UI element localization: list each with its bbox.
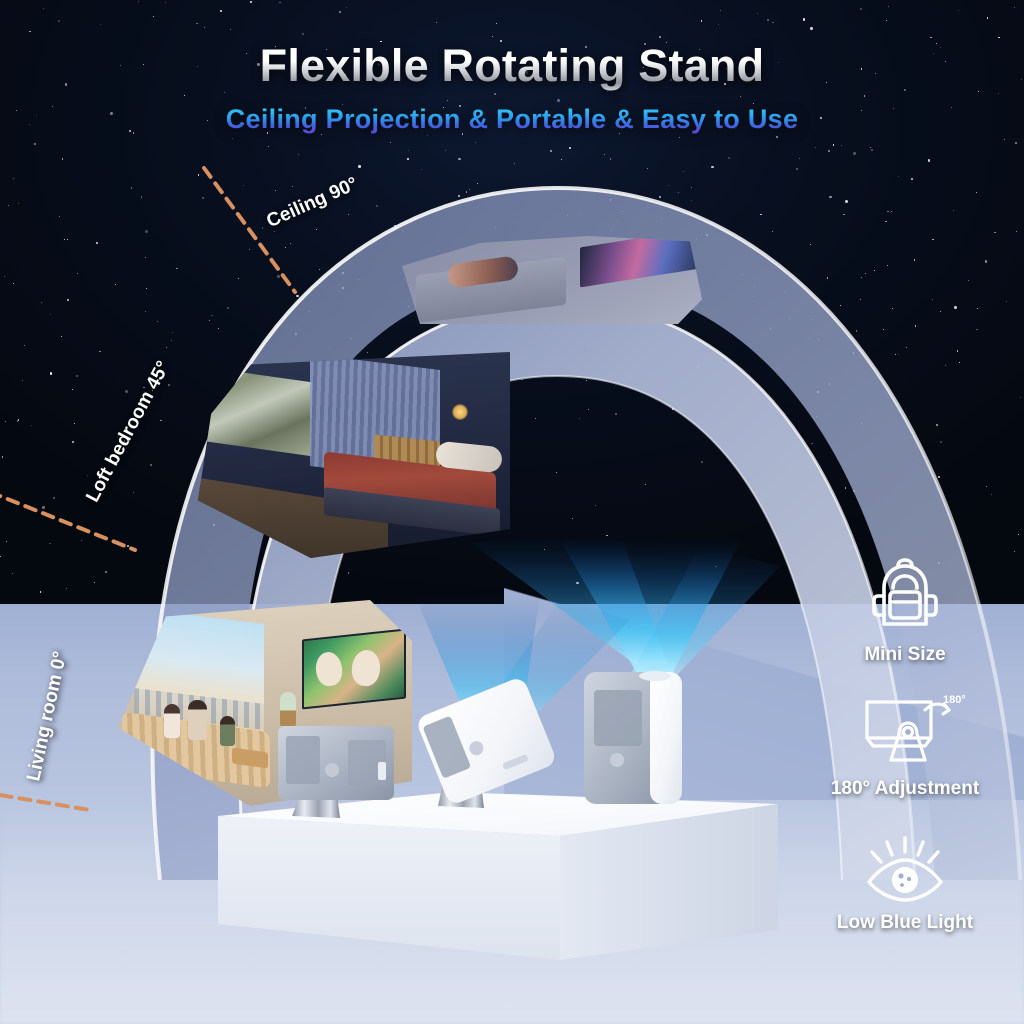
feature-low-blue-light: Low Blue Light [800, 834, 1010, 934]
rotation-badge: 180° [943, 694, 965, 706]
feature-180-adjustment: 180° 180° Adjustment [800, 694, 1010, 800]
podium [218, 792, 778, 960]
feature-label: Low Blue Light [800, 912, 1010, 934]
feature-mini-size: Mini Size [800, 548, 1010, 666]
backpack-icon [860, 548, 950, 638]
product-marketing-image: Flexible Rotating Stand Ceiling Projecti… [0, 0, 1024, 1024]
page-subtitle: Ceiling Projection & Portable & Easy to … [0, 104, 1024, 135]
feature-label: 180° Adjustment [800, 778, 1010, 800]
feature-label: Mini Size [800, 644, 1010, 666]
projector-rotation-icon: 180° [845, 694, 965, 772]
eye-icon [855, 834, 955, 906]
page-title: Flexible Rotating Stand [0, 40, 1024, 92]
projector-90deg [584, 671, 682, 804]
